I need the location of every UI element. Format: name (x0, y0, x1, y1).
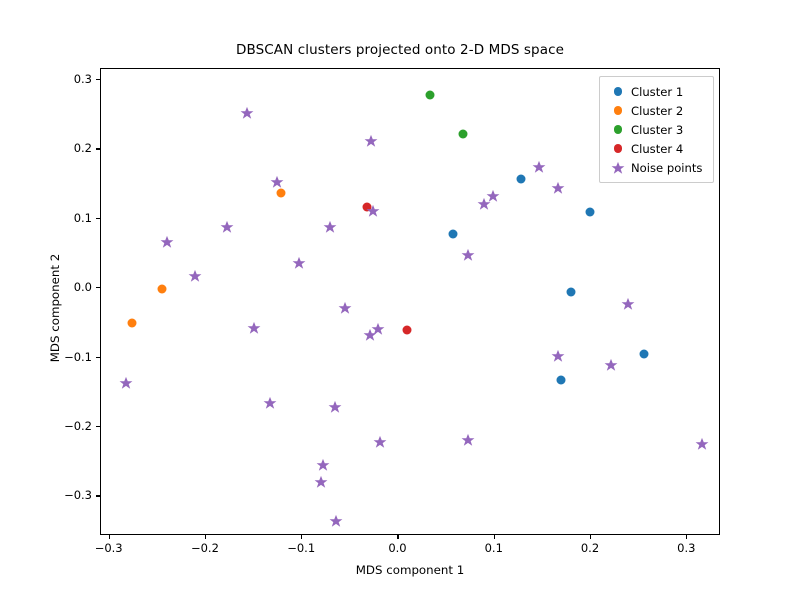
data-point-cluster-1 (586, 207, 595, 216)
data-point-noise-points (270, 175, 284, 189)
y-axis-label: MDS component 2 (48, 248, 62, 368)
x-tick-label: 0.3 (677, 541, 695, 555)
y-tick-label: −0.3 (64, 488, 92, 502)
y-tick-mark (96, 357, 100, 358)
data-point-noise-points (461, 248, 475, 262)
data-point-noise-points (328, 400, 342, 414)
data-point-noise-points (366, 204, 380, 218)
x-tick-label: 0.1 (485, 541, 503, 555)
data-point-cluster-4 (403, 325, 412, 334)
circle-marker-icon (607, 87, 629, 96)
circle-marker-icon (607, 125, 629, 134)
data-point-noise-points (323, 220, 337, 234)
legend-item-cluster-1[interactable]: Cluster 1 (607, 82, 707, 101)
legend-item-label: Cluster 1 (629, 85, 683, 99)
y-tick-mark (96, 148, 100, 149)
y-tick-mark (96, 426, 100, 427)
star-marker-icon (607, 161, 629, 175)
data-point-cluster-3 (426, 90, 435, 99)
x-tick-label: −0.1 (287, 541, 315, 555)
data-point-noise-points (247, 321, 261, 335)
data-point-noise-points (373, 435, 387, 449)
data-point-noise-points (188, 269, 202, 283)
x-tick-mark (301, 535, 302, 539)
data-point-cluster-1 (516, 174, 525, 183)
data-point-noise-points (338, 301, 352, 315)
legend-item-label: Noise points (629, 161, 702, 175)
data-point-noise-points (263, 396, 277, 410)
data-point-noise-points (314, 475, 328, 489)
x-tick-label: −0.2 (191, 541, 219, 555)
x-tick-mark (397, 535, 398, 539)
data-point-cluster-3 (458, 130, 467, 139)
legend-item-noise-points[interactable]: Noise points (607, 158, 707, 177)
y-tick-label: 0.0 (74, 280, 92, 294)
y-tick-label: 0.3 (74, 72, 92, 86)
circle-marker-icon (607, 106, 629, 115)
x-tick-mark (590, 535, 591, 539)
matplotlib-figure: DBSCAN clusters projected onto 2-D MDS s… (0, 0, 800, 600)
y-tick-label: −0.2 (64, 419, 92, 433)
data-point-cluster-2 (127, 318, 136, 327)
legend-item-label: Cluster 2 (629, 104, 683, 118)
data-point-noise-points (292, 256, 306, 270)
x-tick-mark (109, 535, 110, 539)
data-point-cluster-2 (157, 284, 166, 293)
x-tick-label: 0.2 (581, 541, 599, 555)
data-point-noise-points (220, 220, 234, 234)
legend-item-label: Cluster 4 (629, 142, 683, 156)
data-point-noise-points (551, 181, 565, 195)
data-point-cluster-1 (557, 375, 566, 384)
data-point-noise-points (119, 376, 133, 390)
data-point-noise-points (316, 458, 330, 472)
data-point-cluster-2 (277, 188, 286, 197)
data-point-noise-points (240, 106, 254, 120)
data-point-cluster-1 (566, 288, 575, 297)
data-point-noise-points (160, 235, 174, 249)
legend-item-label: Cluster 3 (629, 123, 683, 137)
y-tick-mark (96, 218, 100, 219)
data-point-cluster-1 (639, 349, 648, 358)
data-point-noise-points (621, 297, 635, 311)
x-tick-label: −0.3 (95, 541, 123, 555)
y-tick-label: 0.2 (74, 141, 92, 155)
x-tick-mark (686, 535, 687, 539)
data-point-noise-points (695, 437, 709, 451)
data-point-noise-points (364, 134, 378, 148)
data-point-noise-points (477, 197, 491, 211)
y-tick-label: −0.1 (64, 350, 92, 364)
data-point-cluster-1 (449, 230, 458, 239)
y-tick-mark (96, 287, 100, 288)
x-tick-mark (494, 535, 495, 539)
y-tick-mark (96, 495, 100, 496)
data-point-noise-points (551, 349, 565, 363)
y-tick-label: 0.1 (74, 211, 92, 225)
data-point-noise-points (532, 160, 546, 174)
data-point-noise-points (461, 433, 475, 447)
legend-item-cluster-4[interactable]: Cluster 4 (607, 139, 707, 158)
y-tick-mark (96, 79, 100, 80)
x-axis-label: MDS component 1 (100, 563, 720, 577)
x-tick-label: 0.0 (388, 541, 406, 555)
data-point-noise-points (329, 514, 343, 528)
x-tick-mark (205, 535, 206, 539)
legend-item-cluster-2[interactable]: Cluster 2 (607, 101, 707, 120)
data-point-noise-points (363, 328, 377, 342)
chart-legend: Cluster 1Cluster 2Cluster 3Cluster 4Nois… (599, 76, 714, 183)
data-point-noise-points (604, 358, 618, 372)
legend-item-cluster-3[interactable]: Cluster 3 (607, 120, 707, 139)
chart-title: DBSCAN clusters projected onto 2-D MDS s… (0, 42, 800, 58)
circle-marker-icon (607, 144, 629, 153)
